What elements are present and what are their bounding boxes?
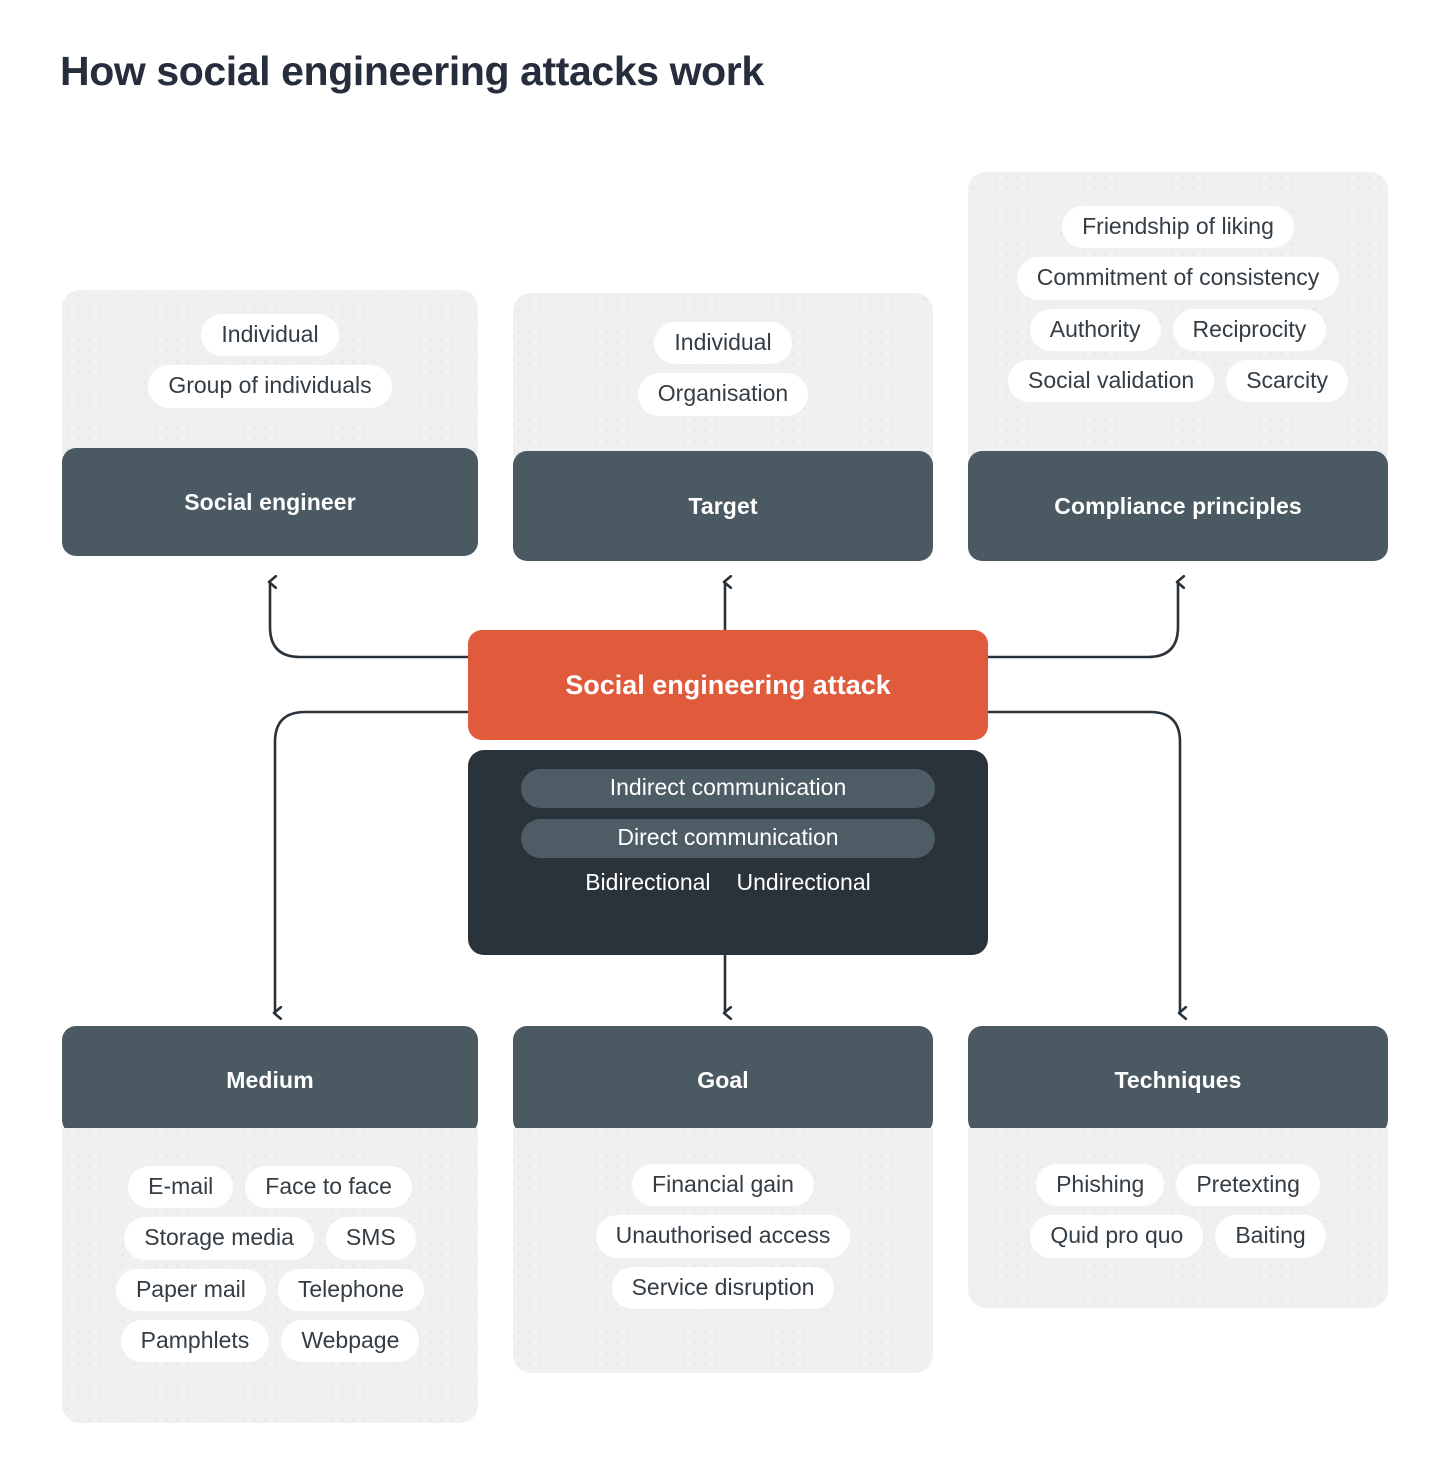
- chip-group-of-individuals[interactable]: Group of individuals: [148, 365, 391, 407]
- chip-face-to-face[interactable]: Face to face: [245, 1166, 412, 1208]
- connector-attack-to-compliance: [988, 582, 1178, 657]
- medium-items-panel: E-mail Face to face Storage media SMS Pa…: [62, 1128, 478, 1423]
- compliance-items-panel: Friendship of liking Commitment of consi…: [968, 172, 1388, 457]
- chip-row: Friendship of liking: [980, 206, 1376, 248]
- compliance-header[interactable]: Compliance principles: [968, 451, 1388, 561]
- target-header[interactable]: Target: [513, 451, 933, 561]
- pill-direct-communication[interactable]: Direct communication: [521, 819, 935, 858]
- chip-row: E-mail Face to face: [76, 1166, 464, 1208]
- chip-e-mail[interactable]: E-mail: [128, 1166, 233, 1208]
- chip-row: Paper mail Telephone: [76, 1269, 464, 1311]
- social-engineer-header-label: Social engineer: [184, 489, 356, 516]
- chip-row: Service disruption: [527, 1267, 919, 1309]
- chip-sms[interactable]: SMS: [326, 1217, 416, 1259]
- medium-header-label: Medium: [226, 1067, 314, 1094]
- chip-phishing[interactable]: Phishing: [1036, 1164, 1164, 1206]
- chip-financial-gain[interactable]: Financial gain: [632, 1164, 814, 1206]
- chip-row: Unauthorised access: [527, 1215, 919, 1257]
- chip-row: Individual: [529, 322, 917, 364]
- social-engineer-header[interactable]: Social engineer: [62, 448, 478, 556]
- chip-authority[interactable]: Authority: [1030, 309, 1161, 351]
- goal-items-panel: Financial gain Unauthorised access Servi…: [513, 1128, 933, 1373]
- chip-row: Commitment of consistency: [980, 257, 1376, 299]
- goal-chip-list: Financial gain Unauthorised access Servi…: [513, 1164, 933, 1309]
- target-chip-list: Individual Organisation: [513, 322, 933, 416]
- chip-row: Social validation Scarcity: [980, 360, 1376, 402]
- compliance-header-label: Compliance principles: [1054, 493, 1302, 520]
- chip-pretexting[interactable]: Pretexting: [1176, 1164, 1320, 1206]
- chip-individual[interactable]: Individual: [654, 322, 791, 364]
- chip-storage-media[interactable]: Storage media: [124, 1217, 314, 1259]
- techniques-items-panel: Phishing Pretexting Quid pro quo Baiting: [968, 1128, 1388, 1308]
- chip-row: Storage media SMS: [76, 1217, 464, 1259]
- chip-friendship-of-liking[interactable]: Friendship of liking: [1062, 206, 1294, 248]
- chip-baiting[interactable]: Baiting: [1215, 1215, 1325, 1257]
- chip-paper-mail[interactable]: Paper mail: [116, 1269, 266, 1311]
- medium-header[interactable]: Medium: [62, 1026, 478, 1134]
- chip-telephone[interactable]: Telephone: [278, 1269, 424, 1311]
- social-engineering-attack-node[interactable]: Social engineering attack: [468, 630, 988, 740]
- communication-node: Indirect communication Direct communicat…: [468, 750, 988, 955]
- target-items-panel: Individual Organisation: [513, 293, 933, 457]
- chip-scarcity[interactable]: Scarcity: [1226, 360, 1348, 402]
- compliance-chip-list: Friendship of liking Commitment of consi…: [968, 206, 1388, 402]
- target-header-label: Target: [688, 493, 757, 520]
- chip-unauthorised-access[interactable]: Unauthorised access: [596, 1215, 851, 1257]
- chip-row: Financial gain: [527, 1164, 919, 1206]
- chip-webpage[interactable]: Webpage: [281, 1320, 419, 1362]
- label-bidirectional: Bidirectional: [585, 869, 710, 896]
- medium-chip-list: E-mail Face to face Storage media SMS Pa…: [62, 1166, 478, 1362]
- chip-commitment-of-consistency[interactable]: Commitment of consistency: [1017, 257, 1339, 299]
- chip-social-validation[interactable]: Social validation: [1008, 360, 1214, 402]
- chip-service-disruption[interactable]: Service disruption: [612, 1267, 835, 1309]
- chip-quid-pro-quo[interactable]: Quid pro quo: [1030, 1215, 1203, 1257]
- chip-organisation[interactable]: Organisation: [638, 373, 808, 415]
- techniques-header-label: Techniques: [1114, 1067, 1241, 1094]
- page-title: How social engineering attacks work: [60, 48, 764, 95]
- chip-row: Group of individuals: [78, 365, 462, 407]
- goal-header[interactable]: Goal: [513, 1026, 933, 1134]
- chip-row: Individual: [78, 314, 462, 356]
- attack-node-label: Social engineering attack: [565, 670, 891, 701]
- chip-row: Phishing Pretexting: [982, 1164, 1374, 1206]
- chip-row: Authority Reciprocity: [980, 309, 1376, 351]
- chip-row: Quid pro quo Baiting: [982, 1215, 1374, 1257]
- goal-header-label: Goal: [697, 1067, 749, 1094]
- chip-reciprocity[interactable]: Reciprocity: [1173, 309, 1327, 351]
- chip-pamphlets[interactable]: Pamphlets: [121, 1320, 270, 1362]
- chip-individual[interactable]: Individual: [201, 314, 338, 356]
- techniques-chip-list: Phishing Pretexting Quid pro quo Baiting: [968, 1164, 1388, 1258]
- techniques-header[interactable]: Techniques: [968, 1026, 1388, 1134]
- label-undirectional: Undirectional: [737, 869, 871, 896]
- chip-row: Organisation: [529, 373, 917, 415]
- connector-attack-to-techniques: [988, 712, 1180, 1013]
- pill-indirect-communication[interactable]: Indirect communication: [521, 769, 935, 808]
- diagram-canvas: How social engineering attacks work: [0, 0, 1448, 1468]
- connector-attack-to-social-engineer: [270, 582, 468, 657]
- connector-attack-to-medium: [275, 712, 468, 1013]
- chip-row: Pamphlets Webpage: [76, 1320, 464, 1362]
- social-engineer-chip-list: Individual Group of individuals: [62, 314, 478, 408]
- social-engineer-items-panel: Individual Group of individuals: [62, 290, 478, 454]
- communication-direction-row: Bidirectional Undirectional: [468, 869, 988, 896]
